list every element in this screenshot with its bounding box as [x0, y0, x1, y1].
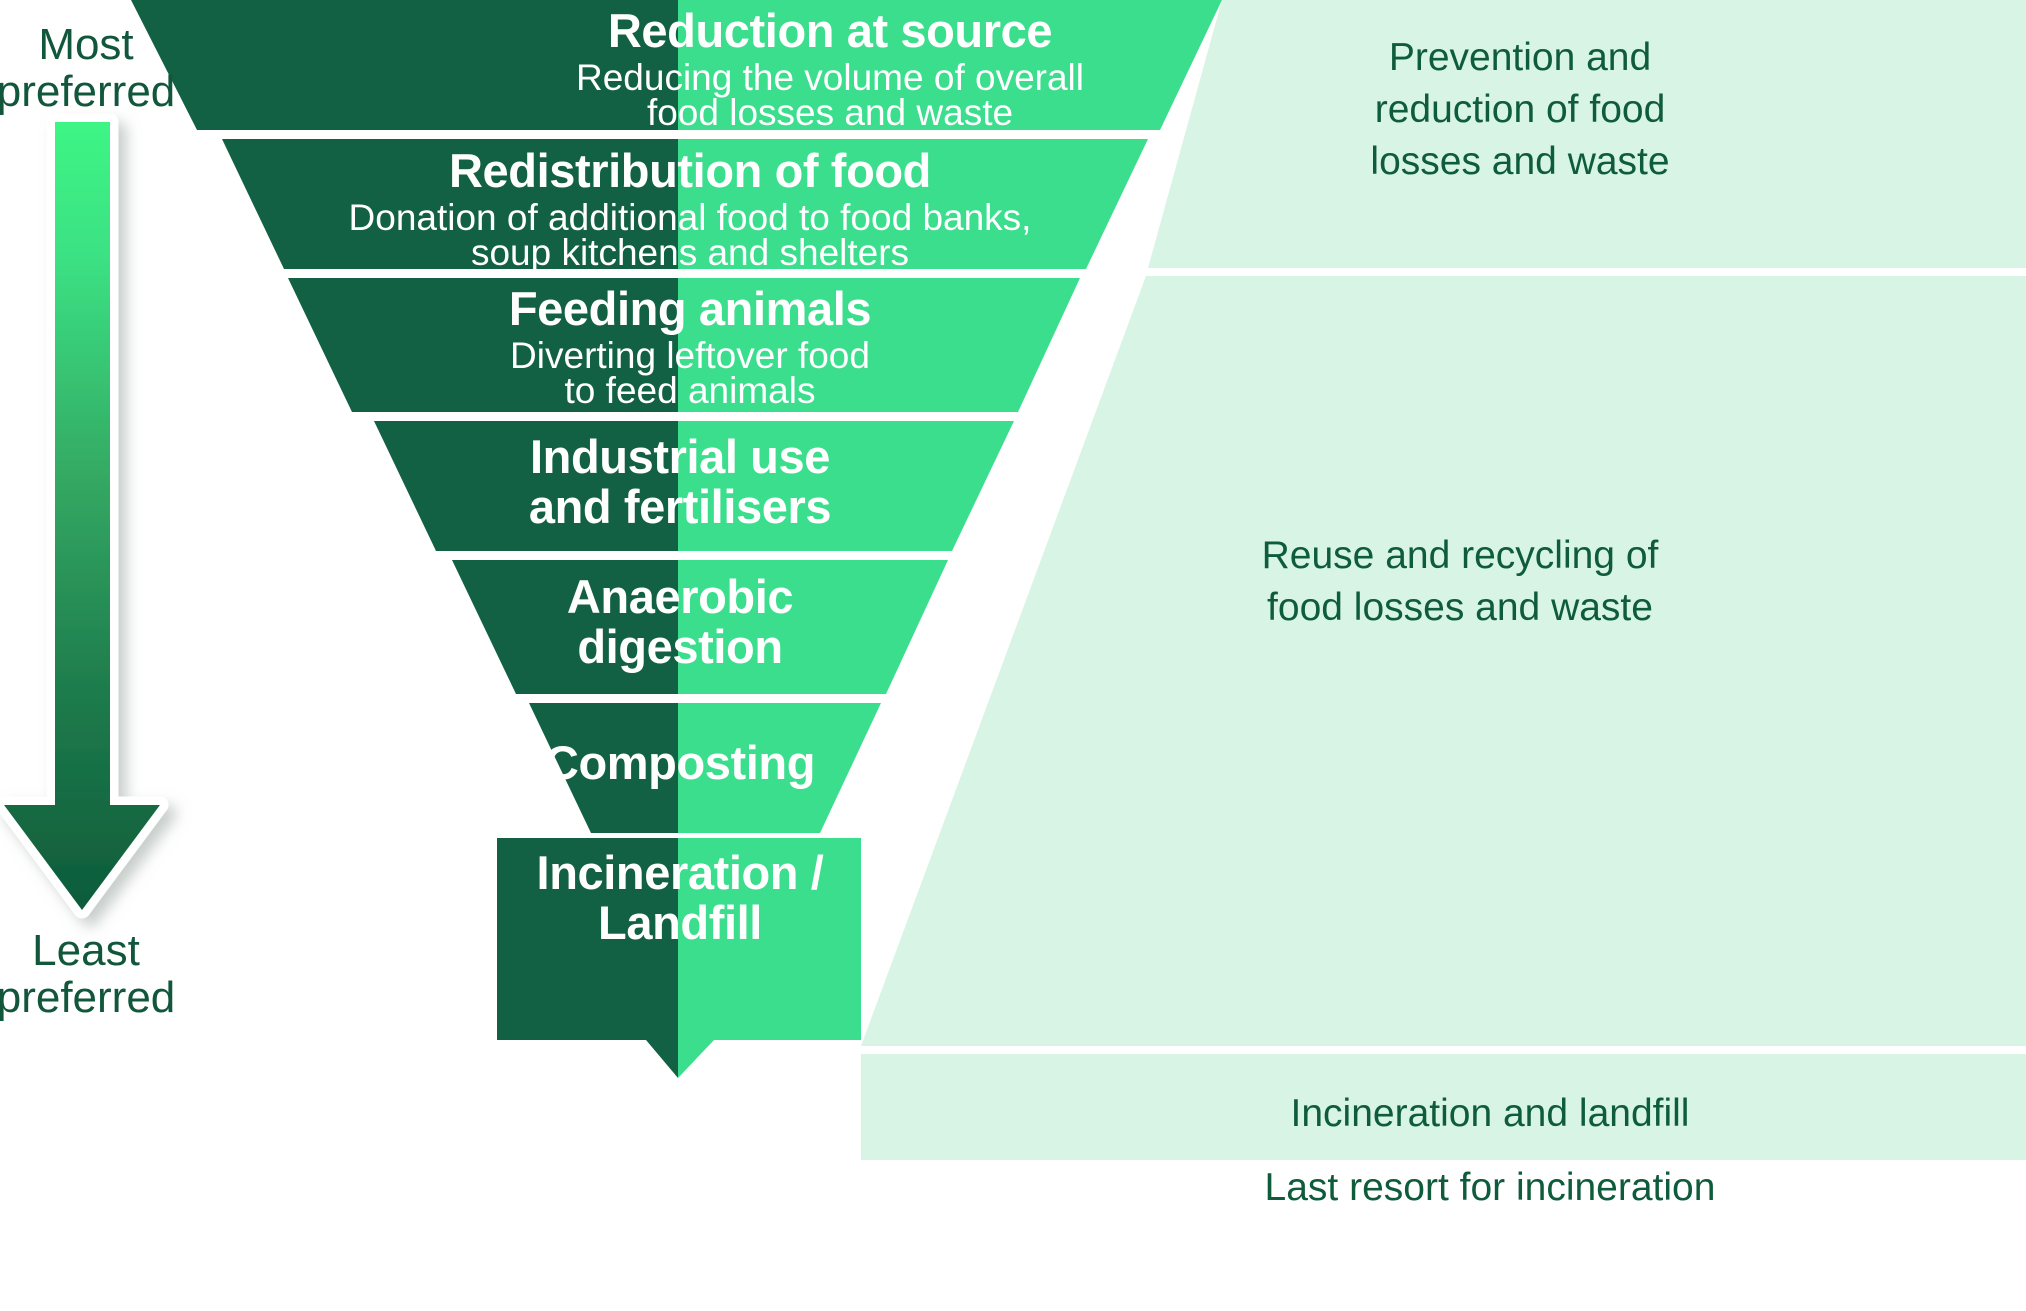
preference-arrow	[4, 122, 160, 910]
funnel-tier-1	[131, 0, 1222, 130]
most-preferred-label: Most preferred	[0, 22, 186, 115]
side-section-disposal: Incineration and landfill Last resort fo…	[1130, 1088, 1850, 1214]
most-preferred-line2: preferred	[0, 69, 186, 116]
funnel-tier-4	[374, 421, 1014, 551]
side-disposal-line2: Last resort for incineration	[1130, 1162, 1850, 1214]
side-reuse-line1: Reuse and recycling of	[1130, 530, 1790, 582]
side-section-reuse: Reuse and recycling of food losses and w…	[1130, 530, 1790, 634]
side-section-prevention: Prevention and reduction of food losses …	[1240, 32, 1800, 188]
side-disposal-spacer	[1130, 1140, 1850, 1162]
side-disposal-line1: Incineration and landfill	[1130, 1088, 1850, 1140]
side-reuse-line2: food losses and waste	[1130, 582, 1790, 634]
side-prevention-line2: reduction of food	[1240, 84, 1800, 136]
funnel-tier-2	[222, 139, 1148, 269]
funnel-tier-6	[529, 703, 881, 833]
least-preferred-line2: preferred	[0, 975, 186, 1022]
funnel-tier-5	[452, 560, 948, 694]
food-waste-hierarchy-diagram: Most preferred Least preferred Reduction…	[0, 0, 2026, 1311]
funnel-tier-3	[288, 278, 1080, 412]
least-preferred-label: Least preferred	[0, 928, 186, 1021]
side-prevention-line3: losses and waste	[1240, 136, 1800, 188]
side-prevention-line1: Prevention and	[1240, 32, 1800, 84]
least-preferred-line1: Least	[0, 928, 186, 975]
side-band-reuse	[861, 276, 2026, 1046]
funnel-tier-7	[497, 838, 861, 1078]
most-preferred-line1: Most	[0, 22, 186, 69]
